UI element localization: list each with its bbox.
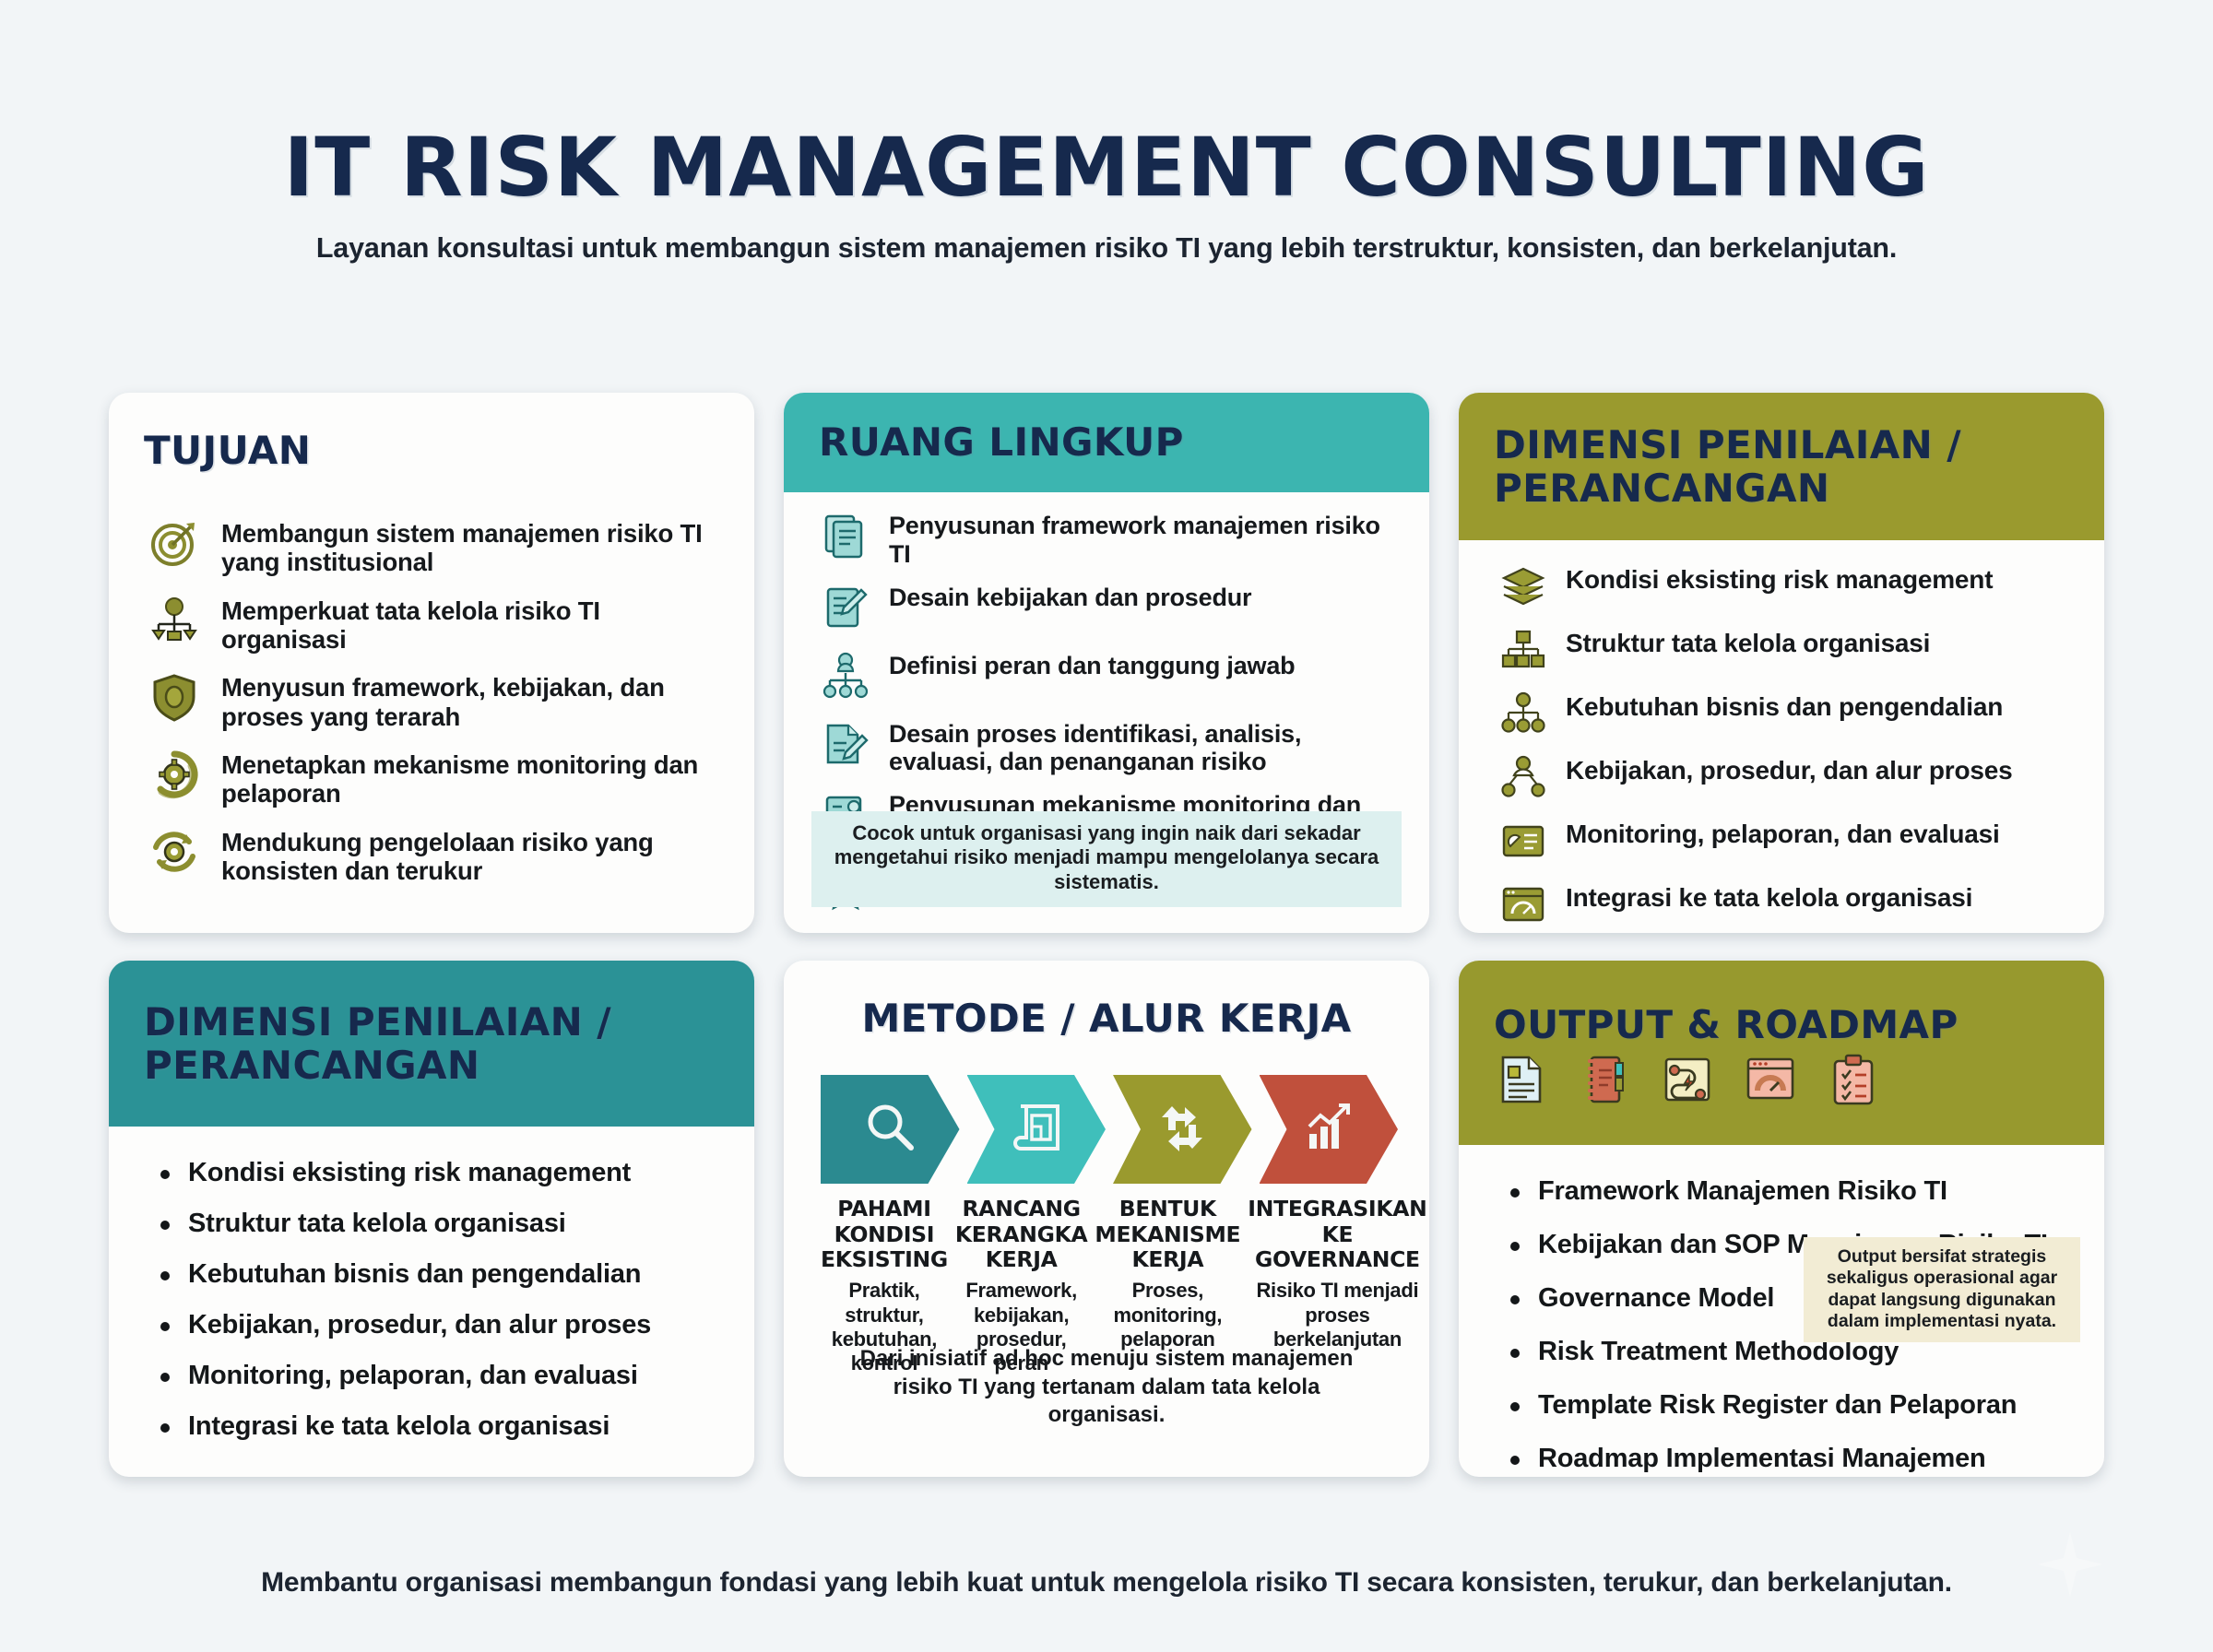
list-item-label: Menetapkan mekanisme monitoring dan pela… — [221, 748, 717, 808]
card-ruang-lingkup: RUANG LINGKUP Penyusunan framework manaj… — [784, 393, 1429, 933]
list-item: Integrasi ke tata kelola organisasi — [157, 1411, 717, 1442]
document-pencil-icon — [821, 583, 870, 637]
list-item: Kebutuhan bisnis dan pengendalian — [1501, 690, 2077, 740]
card-metode-title: METODE / ALUR KERJA — [861, 997, 1351, 1040]
list-item: Menyusun framework, kebijakan, dan prose… — [149, 670, 717, 731]
step-title: PAHAMI KONDISI EKSISTING — [821, 1197, 948, 1273]
list-item: Monitoring, pelaporan, dan evaluasi — [157, 1361, 717, 1391]
card-dimensi-olive: DIMENSI PENILAIAN / PERANCANGAN Kondisi … — [1459, 393, 2104, 933]
page-title: IT RISK MANAGEMENT CONSULTING — [0, 127, 2213, 208]
flow-step-1[interactable] — [821, 1075, 960, 1184]
target-icon — [149, 518, 199, 572]
growth-chart-icon — [1300, 1099, 1357, 1161]
list-item: Penyusunan framework manajemen risiko TI — [821, 509, 1402, 569]
list-item-label: Menyusun framework, kebijakan, dan prose… — [221, 670, 717, 731]
card-output-title: OUTPUT & ROADMAP — [1494, 1003, 1959, 1046]
magnifier-icon — [861, 1099, 918, 1161]
page-subtitle: Layanan konsultasi untuk membangun siste… — [0, 232, 2213, 265]
list-item-label: Membangun sistem manajemen risiko TI yan… — [221, 516, 717, 577]
card-output: OUTPUT & ROADMAP F — [1459, 961, 2104, 1477]
card-ruang-lingkup-title: RUANG LINGKUP — [819, 420, 1184, 464]
card-ruang-lingkup-header: RUANG LINGKUP — [784, 393, 1429, 492]
list-item: Memperkuat tata kelola risiko TI organis… — [149, 594, 717, 655]
list-item-label: Kebutuhan bisnis dan pengendalian — [1566, 690, 2003, 722]
list-item: Desain proses identifikasi, analisis, ev… — [821, 717, 1402, 777]
list-item: Kebijakan, prosedur, dan alur proses — [1501, 753, 2077, 804]
blueprint-icon — [1008, 1099, 1065, 1161]
list-item: Definisi peran dan tanggung jawab — [821, 649, 1402, 705]
tujuan-list: Membangun sistem manajemen risiko TI yan… — [109, 492, 754, 885]
step-desc: Proses, monitoring, pelaporan — [1095, 1279, 1240, 1351]
dimensi-olive-list: Kondisi eksisting risk management Strukt… — [1459, 540, 2104, 931]
metode-flow: PAHAMI KONDISI EKSISTING Praktik, strukt… — [784, 1060, 1429, 1376]
notebook-icon — [1579, 1054, 1630, 1110]
card-grid: TUJUAN Membangun sistem manajemen risiko… — [109, 393, 2104, 1477]
roadmap-icon — [1662, 1054, 1713, 1110]
title-line-2: PERANCANGAN — [1494, 466, 1829, 511]
list-item: Menetapkan mekanisme monitoring dan pela… — [149, 748, 717, 808]
step-desc: Risiko TI menjadi proses berkelanjutan — [1248, 1279, 1426, 1351]
card-output-header: OUTPUT & ROADMAP — [1459, 961, 2104, 1145]
list-item-label: Definisi peran dan tanggung jawab — [889, 649, 1295, 680]
card-metode: METODE / ALUR KERJA — [784, 961, 1429, 1477]
list-item: Kondisi eksisting risk management — [1501, 562, 2077, 613]
org-chart-person-icon — [821, 651, 870, 705]
list-item: Integrasi ke tata kelola organisasi — [1501, 880, 2077, 931]
list-item: Monitoring, pelaporan, dan evaluasi — [1501, 817, 2077, 867]
list-item: Membangun sistem manajemen risiko TI yan… — [149, 516, 717, 577]
document-edit-icon — [821, 719, 870, 773]
title-line-1: DIMENSI PENILAIAN / — [144, 999, 611, 1044]
list-item-label: Kebijakan, prosedur, dan alur proses — [1566, 753, 2013, 785]
list-item-label: Struktur tata kelola organisasi — [1566, 626, 1930, 658]
card-dimensi-teal: DIMENSI PENILAIAN / PERANCANGAN Kondisi … — [109, 961, 754, 1477]
list-item: Template Risk Register dan Pelaporan — [1507, 1390, 2067, 1421]
flow-chevrons — [821, 1075, 1398, 1184]
card-tujuan-header: TUJUAN — [109, 393, 754, 492]
step-title: INTEGRASIKAN KE GOVERNANCE — [1248, 1197, 1426, 1273]
list-item-label: Desain kebijakan dan prosedur — [889, 581, 1251, 612]
gear-cycle-icon — [149, 749, 199, 804]
step-title: BENTUK MEKANISME KERJA — [1095, 1197, 1240, 1273]
list-item: Kebijakan, prosedur, dan alur proses — [157, 1310, 717, 1340]
flow-step-4[interactable] — [1260, 1075, 1399, 1184]
step-title: RANCANG KERANGKA KERJA — [955, 1197, 1088, 1273]
dashboard-gauge-icon — [1501, 882, 1545, 931]
network-people-icon — [1501, 755, 1545, 804]
card-tujuan: TUJUAN Membangun sistem manajemen risiko… — [109, 393, 754, 933]
list-item: Kebutuhan bisnis dan pengendalian — [157, 1259, 717, 1290]
list-item-label: Penyusunan framework manajemen risiko TI — [889, 509, 1402, 569]
metode-note: Dari inisiatif ad hoc menuju sistem mana… — [832, 1345, 1381, 1429]
dimensi-teal-list: Kondisi eksisting risk management Strukt… — [109, 1127, 754, 1442]
title-line-2: PERANCANGAN — [144, 1043, 479, 1088]
list-item: Roadmap Implementasi Manajemen Risiko TI — [1507, 1444, 2067, 1477]
decorative-corner-mark — [2038, 1532, 2102, 1597]
recycle-icon — [1154, 1099, 1211, 1161]
page-footer: Membantu organisasi membangun fondasi ya… — [0, 1567, 2213, 1599]
list-item-label: Integrasi ke tata kelola organisasi — [1566, 880, 1972, 913]
list-item: Mendukung pengelolaan risiko yang konsis… — [149, 825, 717, 886]
monitor-report-icon — [1501, 819, 1545, 867]
page-header: IT RISK MANAGEMENT CONSULTING Layanan ko… — [0, 0, 2213, 265]
card-dimensi-olive-header: DIMENSI PENILAIAN / PERANCANGAN — [1459, 393, 2104, 540]
hierarchy-icon — [1501, 628, 1545, 677]
flow-step-3[interactable] — [1113, 1075, 1252, 1184]
list-item-label: Desain proses identifikasi, analisis, ev… — [889, 717, 1402, 777]
refresh-gear-icon — [149, 827, 199, 881]
list-item-label: Kondisi eksisting risk management — [1566, 562, 1993, 595]
list-item: Kondisi eksisting risk management — [157, 1158, 717, 1188]
list-item-label: Memperkuat tata kelola risiko TI organis… — [221, 594, 717, 655]
shield-icon — [149, 672, 199, 726]
list-item: Struktur tata kelola organisasi — [1501, 626, 2077, 677]
title-line-1: DIMENSI PENILAIAN / — [1494, 422, 1961, 467]
ruang-lingkup-callout: Cocok untuk organisasi yang ingin naik d… — [811, 811, 1402, 907]
org-tree-icon — [1501, 691, 1545, 740]
card-metode-header: METODE / ALUR KERJA — [784, 961, 1429, 1060]
list-item-label: Mendukung pengelolaan risiko yang konsis… — [221, 825, 717, 886]
card-dimensi-olive-title: DIMENSI PENILAIAN / PERANCANGAN — [1494, 423, 1961, 510]
governance-scales-icon — [149, 596, 199, 650]
output-header-icons — [1494, 1054, 1879, 1110]
card-dimensi-teal-header: DIMENSI PENILAIAN / PERANCANGAN — [109, 961, 754, 1127]
documents-icon — [821, 511, 870, 565]
list-item: Struktur tata kelola organisasi — [157, 1209, 717, 1239]
flow-step-2[interactable] — [967, 1075, 1106, 1184]
output-callout: Output bersifat strategis sekaligus oper… — [1804, 1237, 2080, 1342]
document-icon — [1496, 1054, 1547, 1110]
layers-icon — [1501, 564, 1545, 613]
clipboard-check-icon — [1828, 1054, 1879, 1110]
list-item: Desain kebijakan dan prosedur — [821, 581, 1402, 637]
list-item-label: Monitoring, pelaporan, dan evaluasi — [1566, 817, 2000, 849]
dashboard-icon — [1745, 1054, 1796, 1110]
list-item: Framework Manajemen Risiko TI — [1507, 1176, 2067, 1207]
card-dimensi-teal-title: DIMENSI PENILAIAN / PERANCANGAN — [144, 1000, 611, 1087]
card-tujuan-title: TUJUAN — [144, 429, 311, 472]
